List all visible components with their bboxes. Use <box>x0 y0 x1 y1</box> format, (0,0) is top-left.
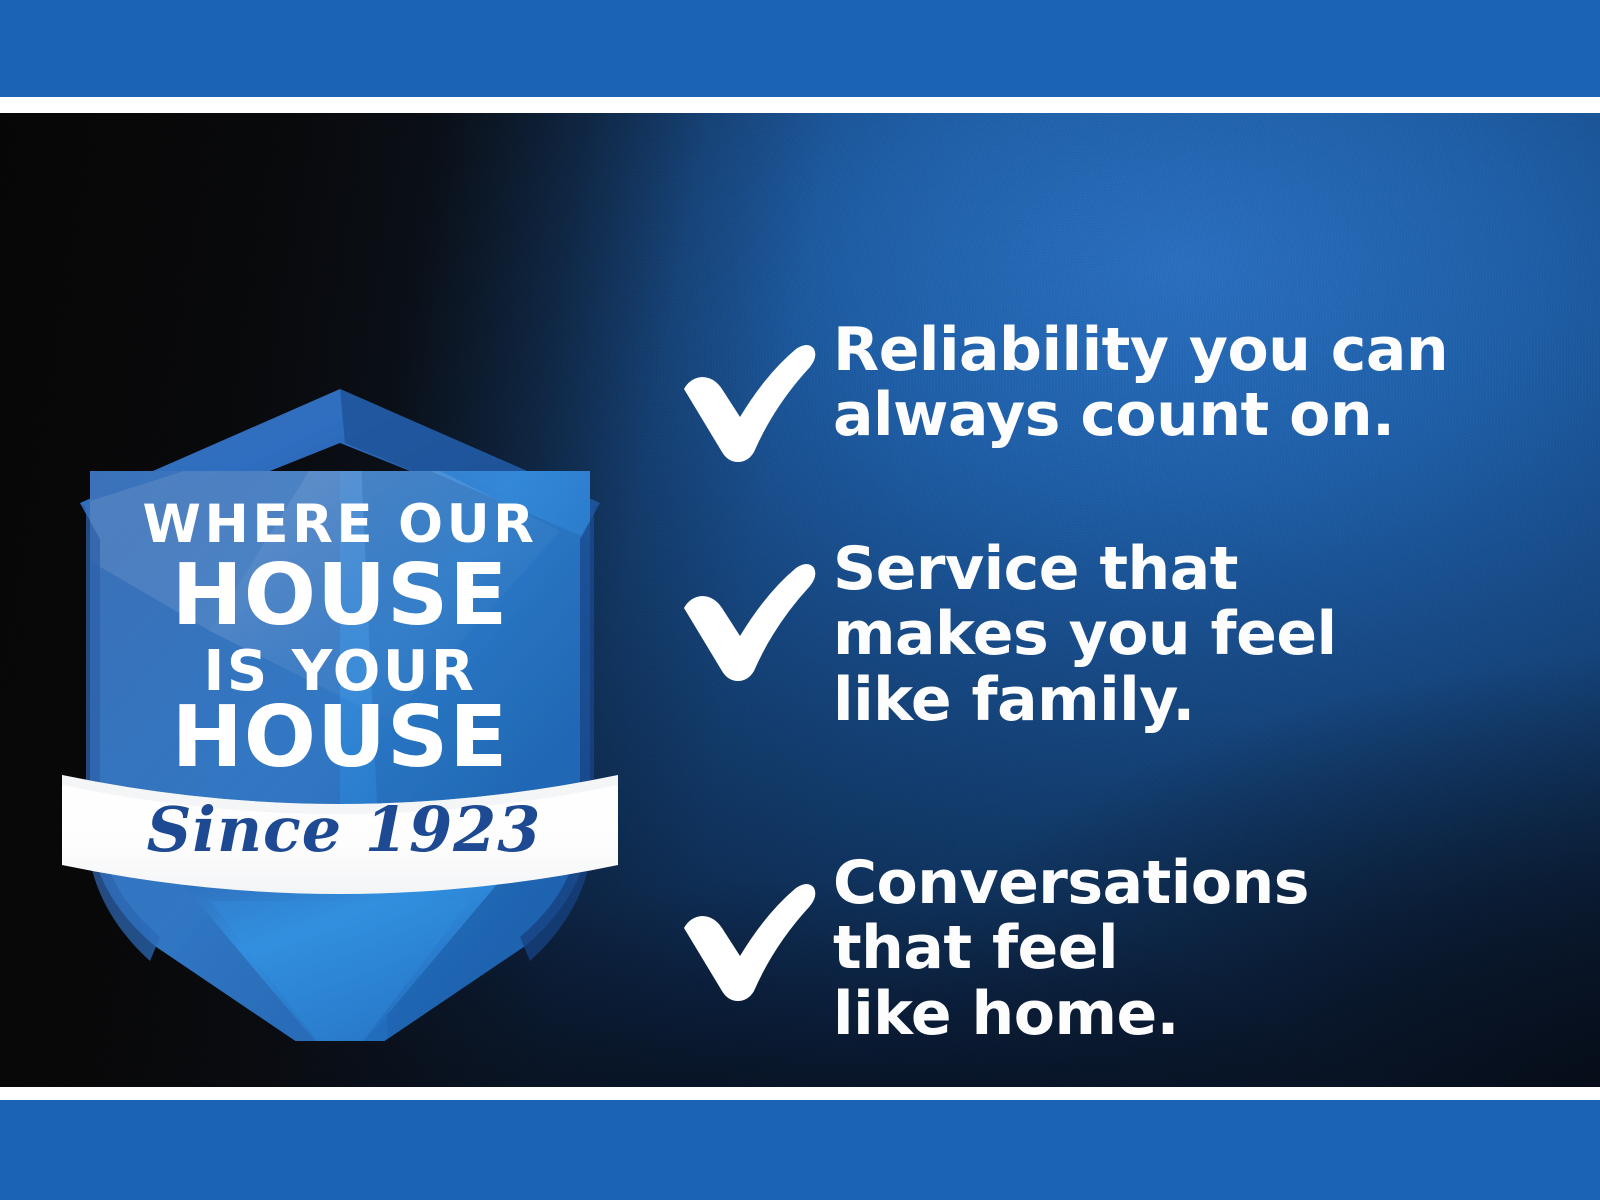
promo-graphic: WHERE OUR HOUSE IS YOUR HOUSE Since 1923 <box>0 0 1600 1200</box>
logo-line-2: HOUSE <box>172 546 509 645</box>
shield-logo: WHERE OUR HOUSE IS YOUR HOUSE Since 1923 <box>60 381 620 1041</box>
benefit-item-1: Reliability you can always count on. <box>668 318 1488 449</box>
benefit-item-2: Service that makes you feel like family. <box>668 537 1488 733</box>
main-panel: WHERE OUR HOUSE IS YOUR HOUSE Since 1923 <box>0 113 1600 1087</box>
benefit-text-3: Conversations that feel like home. <box>833 851 1488 1047</box>
shield-banner: Since 1923 <box>62 775 618 894</box>
banner-since-text: Since 1923 <box>147 793 542 866</box>
benefit-item-3: Conversations that feel like home. <box>668 851 1488 1047</box>
checkmark-icon <box>668 334 818 464</box>
logo-line-4: HOUSE <box>172 688 509 787</box>
benefit-text-1: Reliability you can always count on. <box>833 318 1488 449</box>
shield-text-lockup: WHERE OUR HOUSE IS YOUR HOUSE <box>143 494 538 787</box>
checkmark-icon <box>668 873 818 1003</box>
bottom-brand-bar <box>0 1100 1600 1200</box>
benefit-text-2: Service that makes you feel like family. <box>833 537 1488 733</box>
checkmark-icon <box>668 553 818 683</box>
top-brand-bar <box>0 0 1600 97</box>
benefits-list: Reliability you can always count on. Ser… <box>668 318 1488 1047</box>
